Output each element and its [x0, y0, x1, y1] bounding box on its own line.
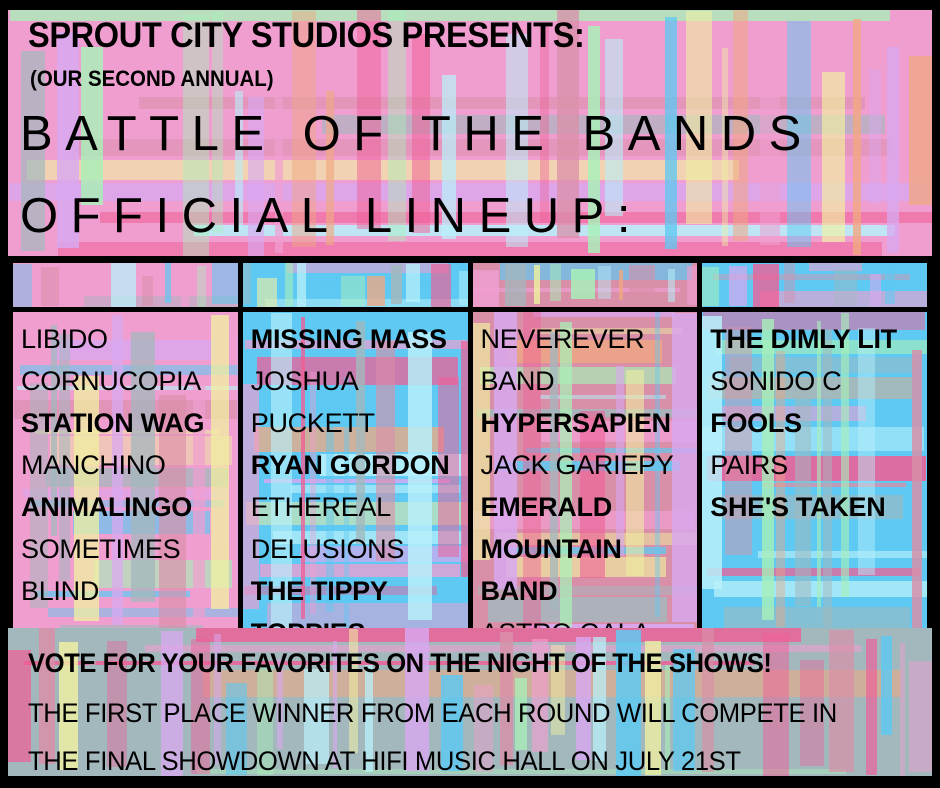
title-line-1: BATTLE OF THE BANDS — [20, 110, 814, 159]
presenter-line: SPROUT CITY STUDIOS PRESENTS: — [28, 18, 585, 53]
band-name: JACK GARIEPY — [481, 444, 698, 486]
lineup-column-4: THE DIMLY LITSONIDO CFOOLSPAIRSSHE'S TAK… — [702, 312, 927, 654]
band-list: MISSING MASSJOSHUA PUCKETTRYAN GORDONETH… — [243, 312, 468, 654]
lineup-column-header-1: SAT JUNE 16TH — [13, 263, 243, 307]
band-name: PAIRS — [710, 444, 927, 486]
footer-line-2: THE FIRST PLACE WINNER FROM EACH ROUND W… — [28, 700, 837, 727]
footer-line-1: VOTE FOR YOUR FAVORITES ON THE NIGHT OF … — [28, 650, 771, 677]
lineup-column-header-3: SAT JUNE 23RD — [473, 263, 703, 307]
band-name: SOMETIMES BLIND — [21, 528, 238, 612]
band-name: LIBIDO — [21, 318, 238, 360]
band-name: SONIDO C — [710, 360, 927, 402]
title-line-2: OFFICIAL LINEUP: — [20, 192, 643, 241]
lineup-table-body: LIBIDOCORNUCOPIASTATION WAGMANCHINOANIMA… — [13, 312, 927, 654]
lineup-table-header-row: SAT JUNE 16THSUN JUNE 17THSAT JUNE 23RDS… — [13, 263, 927, 312]
plaid-background-header-cell — [473, 263, 698, 307]
lineup-column-header-2: SUN JUNE 17TH — [243, 263, 473, 307]
band-list: LIBIDOCORNUCOPIASTATION WAGMANCHINOANIMA… — [13, 312, 238, 612]
lineup-column-2: MISSING MASSJOSHUA PUCKETTRYAN GORDONETH… — [243, 312, 473, 654]
band-name: FOOLS — [710, 402, 927, 444]
band-name: THE DIMLY LIT — [710, 318, 927, 360]
poster-root: SPROUT CITY STUDIOS PRESENTS: (OUR SECON… — [0, 0, 940, 788]
lineup-column-3: NEVEREVER BANDHYPERSAPIENJACK GARIEPYEME… — [473, 312, 703, 654]
poster-header: SPROUT CITY STUDIOS PRESENTS: (OUR SECON… — [8, 10, 932, 256]
band-name: CORNUCOPIA — [21, 360, 238, 402]
band-name: SHE'S TAKEN — [710, 486, 927, 528]
footer-line-3: THE FINAL SHOWDOWN AT HIFI MUSIC HALL ON… — [28, 748, 741, 775]
plaid-background-header-cell — [13, 263, 238, 307]
band-name: MANCHINO — [21, 444, 238, 486]
band-name: RYAN GORDON — [251, 444, 468, 486]
plaid-background-header-cell — [702, 263, 927, 307]
band-name: ETHEREAL DELUSIONS — [251, 486, 468, 570]
band-name: NEVEREVER BAND — [481, 318, 698, 402]
subtitle-line: (OUR SECOND ANNUAL) — [30, 68, 274, 90]
band-name: EMERALD MOUNTAIN BAND — [481, 486, 698, 612]
band-list: THE DIMLY LITSONIDO CFOOLSPAIRSSHE'S TAK… — [702, 312, 927, 528]
lineup-column-header-4: SUN JUNE 24TH — [702, 263, 927, 307]
plaid-background-header-cell — [243, 263, 468, 307]
lineup-column-1: LIBIDOCORNUCOPIASTATION WAGMANCHINOANIMA… — [13, 312, 243, 654]
band-name: JOSHUA PUCKETT — [251, 360, 468, 444]
band-name: MISSING MASS — [251, 318, 468, 360]
band-name: ANIMALINGO — [21, 486, 238, 528]
lineup-table: SAT JUNE 16THSUN JUNE 17THSAT JUNE 23RDS… — [8, 258, 932, 624]
band-name: STATION WAG — [21, 402, 238, 444]
band-list: NEVEREVER BANDHYPERSAPIENJACK GARIEPYEME… — [473, 312, 698, 654]
poster-footer: VOTE FOR YOUR FAVORITES ON THE NIGHT OF … — [8, 628, 932, 776]
band-name: HYPERSAPIEN — [481, 402, 698, 444]
